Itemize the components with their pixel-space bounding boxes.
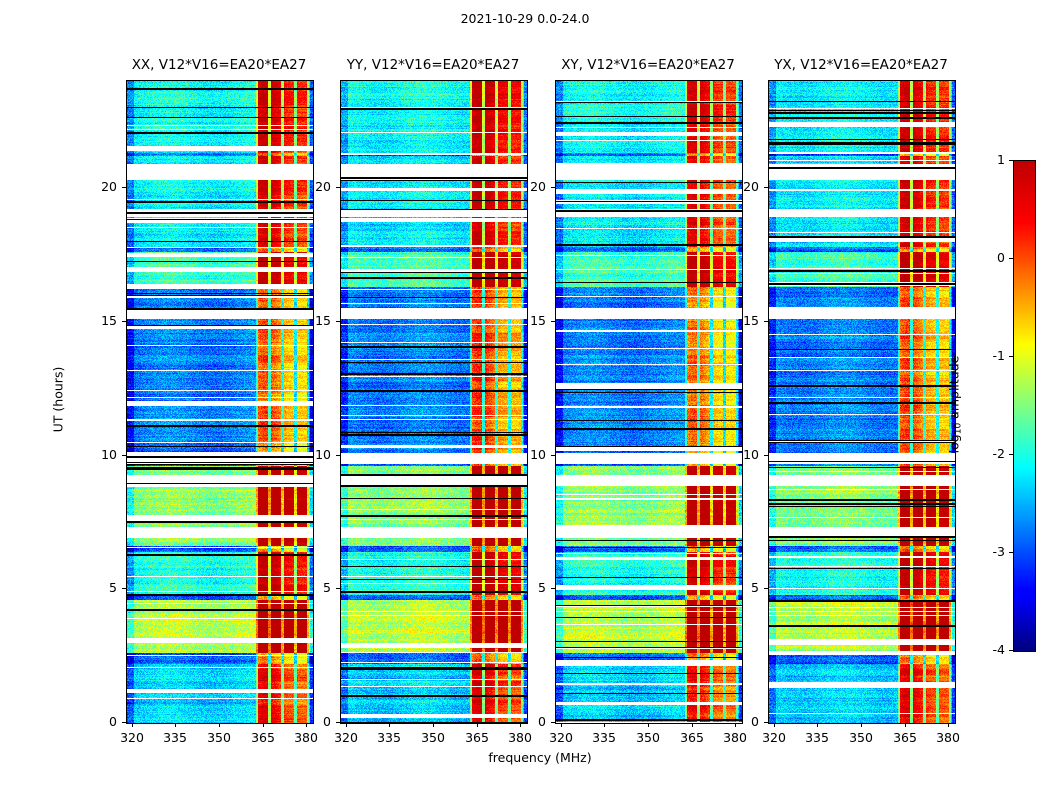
ytick-label: 0 bbox=[714, 714, 759, 729]
xtick-mark bbox=[219, 723, 220, 727]
xtick-mark bbox=[861, 723, 862, 727]
ytick-label: 0 bbox=[501, 714, 546, 729]
colorbar-tick-label: -2 bbox=[963, 446, 1005, 461]
waterfall-panel-yy[interactable] bbox=[340, 80, 528, 724]
ytick-label: 5 bbox=[72, 580, 117, 595]
ytick-mark bbox=[551, 722, 555, 723]
xtick-mark bbox=[648, 723, 649, 727]
xtick-mark bbox=[477, 723, 478, 727]
panel-title-xy: XY, V12*V16=EA20*EA27 bbox=[555, 57, 741, 73]
ytick-label: 10 bbox=[714, 447, 759, 462]
xtick-mark bbox=[817, 723, 818, 727]
ytick-mark bbox=[764, 455, 768, 456]
ytick-label: 0 bbox=[286, 714, 331, 729]
panel-title-yy: YY, V12*V16=EA20*EA27 bbox=[340, 57, 526, 73]
xtick-label: 335 bbox=[364, 730, 414, 745]
ytick-mark bbox=[122, 722, 126, 723]
ytick-label: 10 bbox=[501, 447, 546, 462]
ytick-mark bbox=[122, 455, 126, 456]
ytick-label: 5 bbox=[286, 580, 331, 595]
ytick-mark bbox=[551, 455, 555, 456]
ytick-mark bbox=[764, 588, 768, 589]
xtick-mark bbox=[389, 723, 390, 727]
ytick-mark bbox=[551, 321, 555, 322]
ytick-mark bbox=[336, 588, 340, 589]
xtick-mark bbox=[905, 723, 906, 727]
colorbar-gradient bbox=[1014, 161, 1035, 651]
spectrogram-image-xx bbox=[127, 81, 313, 723]
colorbar-tick-mark bbox=[1009, 160, 1013, 161]
xtick-label: 335 bbox=[150, 730, 200, 745]
ytick-label: 15 bbox=[72, 313, 117, 328]
spectrogram-image-yx bbox=[769, 81, 955, 723]
xtick-mark bbox=[948, 723, 949, 727]
ytick-label: 15 bbox=[286, 313, 331, 328]
ytick-mark bbox=[122, 187, 126, 188]
xtick-label: 350 bbox=[623, 730, 673, 745]
xtick-mark bbox=[175, 723, 176, 727]
ytick-mark bbox=[551, 187, 555, 188]
colorbar-label: log10 amplitude bbox=[947, 159, 964, 649]
ytick-label: 20 bbox=[714, 179, 759, 194]
ytick-mark bbox=[336, 321, 340, 322]
ytick-mark bbox=[551, 588, 555, 589]
ytick-label: 15 bbox=[501, 313, 546, 328]
colorbar-tick-mark bbox=[1009, 552, 1013, 553]
xtick-mark bbox=[692, 723, 693, 727]
ytick-label: 20 bbox=[501, 179, 546, 194]
ytick-mark bbox=[336, 187, 340, 188]
ytick-label: 10 bbox=[72, 447, 117, 462]
y-axis-label: UT (hours) bbox=[51, 79, 66, 721]
ytick-mark bbox=[764, 187, 768, 188]
xtick-mark bbox=[263, 723, 264, 727]
colorbar-tick-mark bbox=[1009, 356, 1013, 357]
colorbar-tick-mark bbox=[1009, 258, 1013, 259]
figure-suptitle: 2021-10-29 0.0-24.0 bbox=[0, 11, 1050, 26]
ytick-mark bbox=[122, 588, 126, 589]
xtick-mark bbox=[346, 723, 347, 727]
ytick-mark bbox=[336, 455, 340, 456]
ytick-label: 20 bbox=[286, 179, 331, 194]
ytick-label: 10 bbox=[286, 447, 331, 462]
colorbar-tick-label: 0 bbox=[963, 250, 1005, 265]
xtick-mark bbox=[132, 723, 133, 727]
ytick-label: 15 bbox=[714, 313, 759, 328]
xtick-label: 350 bbox=[408, 730, 458, 745]
ytick-label: 0 bbox=[72, 714, 117, 729]
xtick-label: 380 bbox=[923, 730, 973, 745]
colorbar-tick-label: -4 bbox=[963, 642, 1005, 657]
waterfall-panel-xx[interactable] bbox=[126, 80, 314, 724]
xtick-mark bbox=[561, 723, 562, 727]
ytick-mark bbox=[122, 321, 126, 322]
waterfall-panel-xy[interactable] bbox=[555, 80, 743, 724]
xtick-label: 350 bbox=[836, 730, 886, 745]
panel-title-xx: XX, V12*V16=EA20*EA27 bbox=[126, 57, 312, 73]
colorbar-tick-mark bbox=[1009, 650, 1013, 651]
ytick-mark bbox=[764, 722, 768, 723]
xtick-mark bbox=[604, 723, 605, 727]
spectrogram-image-xy bbox=[556, 81, 742, 723]
colorbar-tick-label: -1 bbox=[963, 348, 1005, 363]
colorbar-tick-label: -3 bbox=[963, 544, 1005, 559]
xtick-mark bbox=[774, 723, 775, 727]
ytick-label: 5 bbox=[714, 580, 759, 595]
xtick-mark bbox=[433, 723, 434, 727]
xtick-label: 350 bbox=[194, 730, 244, 745]
ytick-mark bbox=[336, 722, 340, 723]
colorbar-tick-mark bbox=[1009, 454, 1013, 455]
ytick-mark bbox=[764, 321, 768, 322]
spectrogram-image-yy bbox=[341, 81, 527, 723]
xtick-label: 335 bbox=[579, 730, 629, 745]
ytick-label: 20 bbox=[72, 179, 117, 194]
colorbar[interactable] bbox=[1013, 160, 1036, 652]
xtick-label: 335 bbox=[792, 730, 842, 745]
x-axis-label: frequency (MHz) bbox=[126, 750, 954, 765]
waterfall-panel-yx[interactable] bbox=[768, 80, 956, 724]
ytick-label: 5 bbox=[501, 580, 546, 595]
panel-title-yx: YX, V12*V16=EA20*EA27 bbox=[768, 57, 954, 73]
colorbar-tick-label: 1 bbox=[963, 152, 1005, 167]
figure-canvas: 2021-10-29 0.0-24.0 XX, V12*V16=EA20*EA2… bbox=[0, 0, 1050, 800]
